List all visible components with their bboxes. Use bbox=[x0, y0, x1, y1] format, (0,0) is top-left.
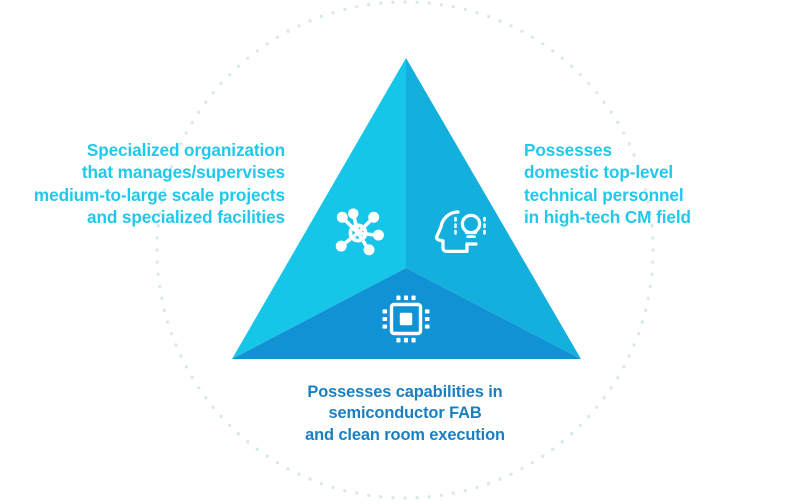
callout-left-text: Specialized organization that manages/su… bbox=[0, 139, 285, 228]
callout-right-text: Possesses domestic top-level technical p… bbox=[524, 139, 804, 228]
microchip-icon bbox=[383, 296, 430, 343]
callout-bottom-text: Possesses capabilities in semiconductor … bbox=[255, 382, 555, 446]
head-lightbulb-icon bbox=[437, 212, 485, 251]
diagram-canvas: Specialized organization that manages/su… bbox=[0, 0, 807, 504]
network-hub-icon bbox=[336, 208, 384, 255]
